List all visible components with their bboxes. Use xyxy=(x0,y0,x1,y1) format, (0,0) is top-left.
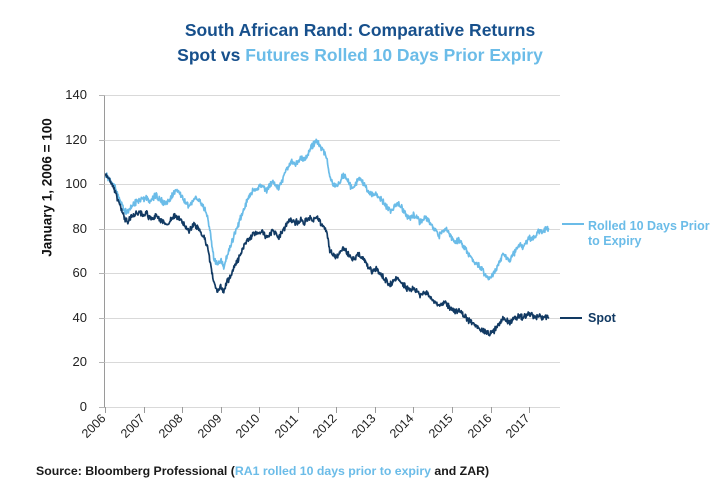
x-axis-tick xyxy=(298,407,299,413)
y-axis-tick-label: 140 xyxy=(43,87,87,102)
x-axis-tick-label: 2014 xyxy=(387,411,417,441)
x-axis-tick xyxy=(182,407,183,413)
source-note: Source: Bloomberg Professional (RA1 roll… xyxy=(36,464,489,478)
x-axis-tick-label: 2007 xyxy=(118,411,148,441)
x-axis-tick xyxy=(452,407,453,413)
legend-label-spot: Spot xyxy=(588,311,708,326)
y-axis-tick-label: 60 xyxy=(43,265,87,280)
legend-line-rolled xyxy=(562,223,584,225)
x-axis-tick xyxy=(375,407,376,413)
series-svg xyxy=(105,95,560,407)
gridline xyxy=(105,407,560,408)
x-axis-tick-label: 2012 xyxy=(310,411,340,441)
x-axis-tick xyxy=(259,407,260,413)
legend-line-spot xyxy=(560,317,582,319)
chart-root: South African Rand: Comparative Returns … xyxy=(0,0,720,500)
legend-label-rolled: Rolled 10 Days Prior to Expiry xyxy=(588,219,713,249)
x-axis-tick-label: 2010 xyxy=(233,411,263,441)
x-axis-tick-label: 2009 xyxy=(195,411,225,441)
title-line-1: South African Rand: Comparative Returns xyxy=(0,18,720,43)
x-axis-tick-label: 2013 xyxy=(349,411,379,441)
x-axis-tick-label: 2006 xyxy=(79,411,109,441)
x-axis-tick-label: 2008 xyxy=(156,411,186,441)
source-suffix: and ZAR) xyxy=(431,464,489,478)
x-axis-tick xyxy=(105,407,106,413)
title-line-2: Spot vs Futures Rolled 10 Days Prior Exp… xyxy=(0,43,720,68)
title-line-2-highlight: Futures Rolled 10 Days Prior Expiry xyxy=(245,45,543,65)
x-axis-tick xyxy=(529,407,530,413)
x-axis-tick-label: 2015 xyxy=(426,411,456,441)
series-line-rolled xyxy=(105,139,548,279)
x-axis-tick-label: 2017 xyxy=(503,411,533,441)
y-axis-tick-label: 40 xyxy=(43,310,87,325)
title-line-2-prefix: Spot vs xyxy=(177,45,245,65)
x-axis-tick xyxy=(413,407,414,413)
x-axis-tick-label: 2011 xyxy=(272,412,301,441)
page-title: South African Rand: Comparative Returns … xyxy=(0,18,720,68)
y-axis-tick-label: 20 xyxy=(43,354,87,369)
x-axis-tick-label: 2016 xyxy=(465,411,495,441)
x-axis-tick xyxy=(491,407,492,413)
source-prefix: Source: Bloomberg Professional ( xyxy=(36,464,235,478)
x-axis-tick xyxy=(336,407,337,413)
y-axis-tick-label: 100 xyxy=(43,176,87,191)
source-highlight: RA1 rolled 10 days prior to expiry xyxy=(235,464,431,478)
x-axis-tick xyxy=(144,407,145,413)
y-axis-tick-label: 0 xyxy=(43,399,87,414)
x-axis-tick xyxy=(221,407,222,413)
y-axis-tick-label: 80 xyxy=(43,221,87,236)
plot-area xyxy=(105,95,560,407)
y-axis-tick-label: 120 xyxy=(43,132,87,147)
